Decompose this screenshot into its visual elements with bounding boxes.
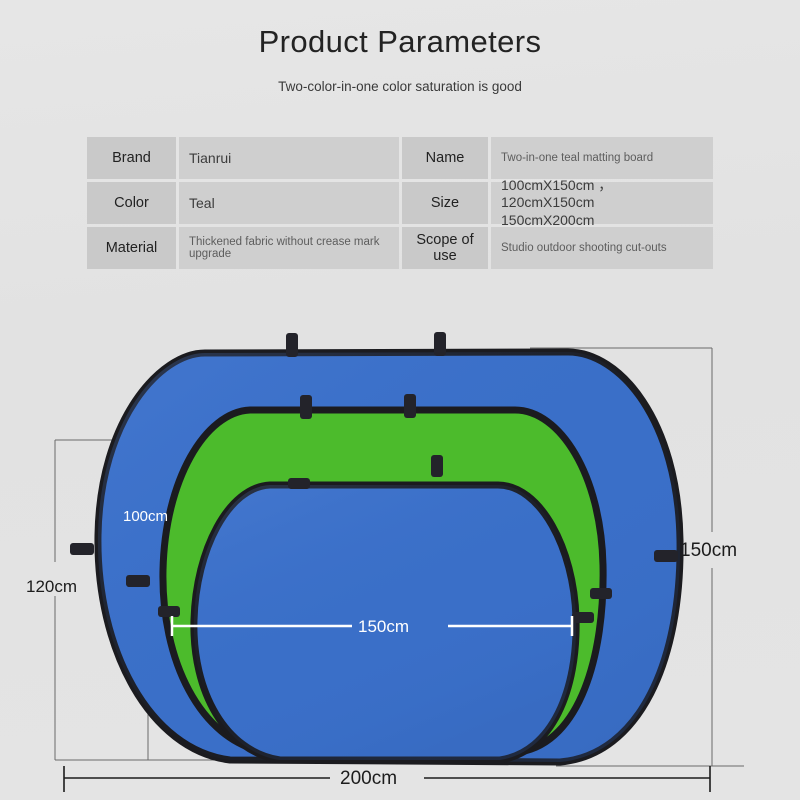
dimension-label-height-outer: 120cm [26, 577, 77, 597]
strap-icon [288, 478, 310, 489]
cell-label-name: Name [402, 137, 488, 179]
cell-label-material: Material [87, 227, 176, 269]
strap-icon [654, 550, 678, 562]
cell-value-color: Teal [179, 182, 399, 224]
cell-value-scope-of-use: Studio outdoor shooting cut-outs [491, 227, 713, 269]
table-row: Color Teal Size 100cmX150cm ，120cmX150cm… [87, 182, 714, 224]
spec-table: Brand Tianrui Name Two-in-one teal matti… [87, 137, 714, 269]
page-subtitle: Two-color-in-one color saturation is goo… [0, 60, 800, 94]
strap-icon [434, 332, 446, 356]
table-row: Material Thickened fabric without crease… [87, 227, 714, 269]
cell-label-color: Color [87, 182, 176, 224]
dimension-label-height-right: 150cm [680, 540, 737, 562]
cell-label-scope-of-use: Scope of use [402, 227, 488, 269]
page-title: Product Parameters [0, 0, 800, 60]
strap-icon [404, 394, 416, 418]
header: Product Parameters Two-color-in-one colo… [0, 0, 800, 94]
dimension-label-width-outer: 200cm [340, 768, 397, 790]
cell-label-size: Size [402, 182, 488, 224]
cell-value-size: 100cmX150cm ，120cmX150cm 150cmX200cm [491, 182, 713, 224]
strap-icon [158, 606, 180, 617]
strap-icon [70, 543, 94, 555]
strap-icon [126, 575, 150, 587]
strap-icon [572, 612, 594, 623]
strap-icon [590, 588, 612, 599]
strap-icon [300, 395, 312, 419]
dimension-label-height-inner: 100cm [123, 508, 168, 525]
strap-icon [286, 333, 298, 357]
product-parameters-page: Product Parameters Two-color-in-one colo… [0, 0, 800, 800]
size-line-1: 100cmX150cm ，120cmX150cm [501, 177, 703, 211]
strap-icon [431, 455, 443, 477]
cell-value-brand: Tianrui [179, 137, 399, 179]
dimension-label-width-inner: 150cm [358, 617, 409, 637]
cell-label-brand: Brand [87, 137, 176, 179]
table-row: Brand Tianrui Name Two-in-one teal matti… [87, 137, 714, 179]
cell-value-name: Two-in-one teal matting board [491, 137, 713, 179]
cell-value-material: Thickened fabric without crease mark upg… [179, 227, 399, 269]
